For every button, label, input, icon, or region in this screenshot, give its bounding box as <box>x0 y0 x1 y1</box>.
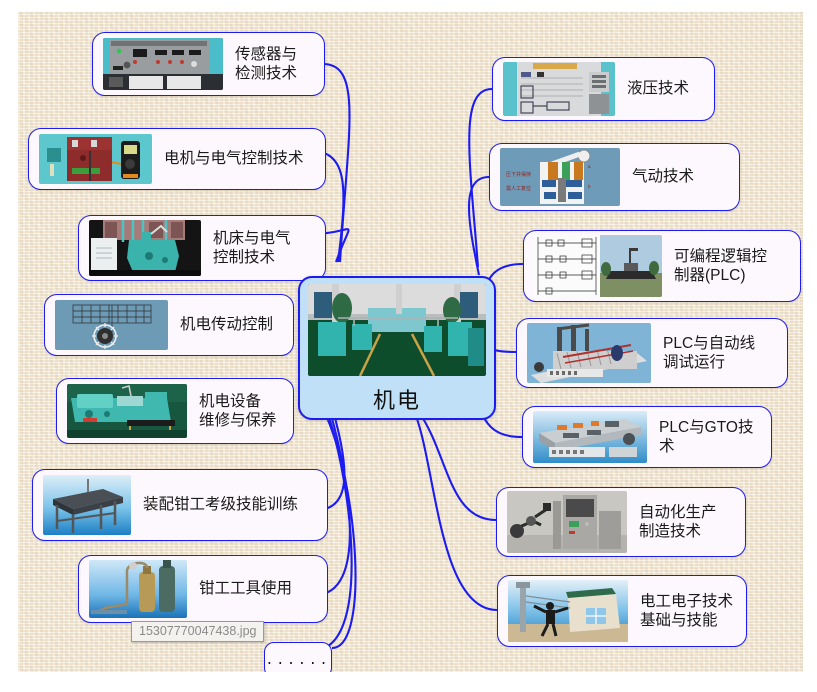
branch-label-plc-gto: PLC与GTO技术 <box>647 418 771 457</box>
thumbnail-machine-tool <box>89 220 201 276</box>
branch-node-plc-line[interactable]: PLC与自动线 调试运行 <box>516 318 788 388</box>
branch-label-plc: 可编程逻辑控 制器(PLC) <box>662 247 800 286</box>
svg-text:需人工复位: 需人工复位 <box>506 185 531 192</box>
thumbnail-hydraulic <box>503 62 615 116</box>
branch-label-pneumatic: 气动技术 <box>620 167 739 186</box>
branch-label-electrical: 电工电子技术 基础与技能 <box>628 592 746 631</box>
branch-node-machine-tool[interactable]: 机床与电气 控制技术 <box>78 215 326 281</box>
branch-label-motor: 电机与电气控制技术 <box>152 149 325 168</box>
mindmap-canvas: 传感器与 检测技术 电机与电气控制技术 <box>18 12 803 672</box>
branch-label-sensor: 传感器与 检测技术 <box>223 45 324 84</box>
branch-label-automation: 自动化生产 制造技术 <box>627 503 745 542</box>
branch-label-hydraulic: 液压技术 <box>615 79 714 98</box>
thumbnail-motor <box>39 134 152 184</box>
thumbnail-plc <box>534 235 662 297</box>
center-node-label: 机电 <box>373 383 421 415</box>
branch-node-automation[interactable]: 自动化生产 制造技术 <box>496 487 746 557</box>
branch-label-fitter-exam: 装配钳工考级技能训练 <box>131 495 327 514</box>
thumbnail-automation <box>507 491 627 553</box>
thumbnail-transmission <box>55 300 168 350</box>
branch-node-fitter-tools[interactable]: 钳工工具使用 <box>78 555 328 623</box>
thumbnail-maintenance <box>67 384 187 438</box>
thumbnail-center-workshop <box>308 284 486 376</box>
branch-label-machine-tool: 机床与电气 控制技术 <box>201 229 325 268</box>
branch-node-electrical[interactable]: 电工电子技术 基础与技能 <box>497 575 747 647</box>
thumbnail-electrical <box>508 580 628 642</box>
thumbnail-sensor <box>103 38 223 90</box>
branch-node-more[interactable]: ...... <box>264 642 332 672</box>
image-filename-tooltip: 15307770047438.jpg <box>131 621 264 642</box>
branch-node-hydraulic[interactable]: 液压技术 <box>492 57 715 121</box>
center-node[interactable]: 机电 <box>298 276 496 420</box>
branch-node-plc[interactable]: 可编程逻辑控 制器(PLC) <box>523 230 801 302</box>
branch-node-sensor[interactable]: 传感器与 检测技术 <box>92 32 325 96</box>
thumbnail-pneumatic: 压下并保持需人工复位 ab <box>500 148 620 206</box>
svg-text:压下并保持: 压下并保持 <box>506 171 531 178</box>
branch-label-plc-line: PLC与自动线 调试运行 <box>651 334 787 373</box>
branch-node-fitter-exam[interactable]: 装配钳工考级技能训练 <box>32 469 328 541</box>
branch-label-transmission: 机电传动控制 <box>168 315 293 334</box>
branch-label-fitter-tools: 钳工工具使用 <box>187 579 327 598</box>
branch-node-plc-gto[interactable]: PLC与GTO技术 <box>522 406 772 468</box>
branch-node-pneumatic[interactable]: 压下并保持需人工复位 ab 气动技术 <box>489 143 740 211</box>
thumbnail-fitter-tools <box>89 560 187 618</box>
more-dots-label: ...... <box>266 654 331 667</box>
thumbnail-plc-gto <box>533 411 647 463</box>
thumbnail-plc-line <box>527 323 651 383</box>
thumbnail-fitter-exam <box>43 475 131 535</box>
branch-node-transmission[interactable]: 机电传动控制 <box>44 294 294 356</box>
branch-label-maintenance: 机电设备 维修与保养 <box>187 392 293 431</box>
branch-node-motor[interactable]: 电机与电气控制技术 <box>28 128 326 190</box>
branch-node-maintenance[interactable]: 机电设备 维修与保养 <box>56 378 294 444</box>
